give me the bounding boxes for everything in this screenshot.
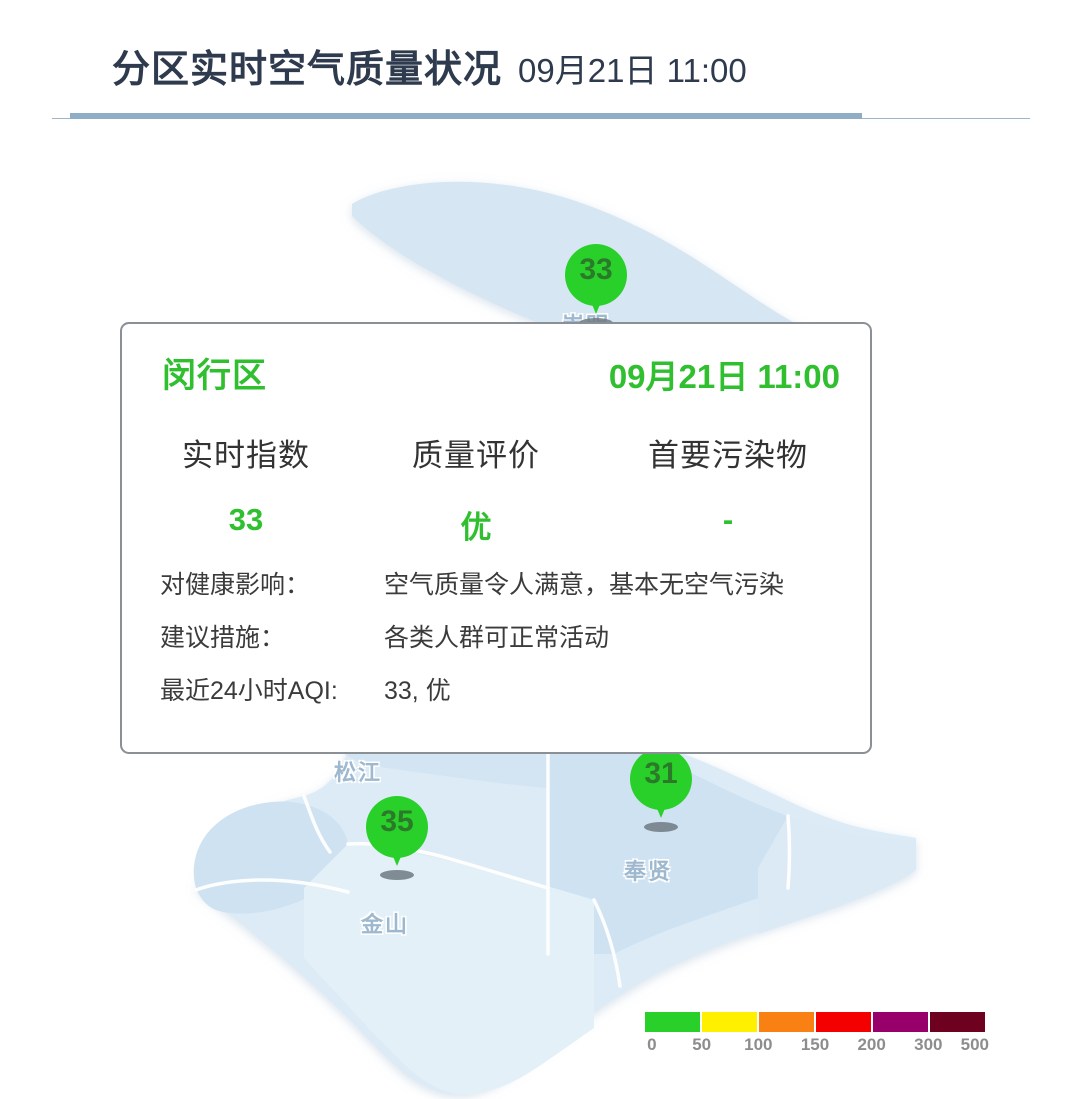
detail-value-24h-aqi: 33, 优 [384, 670, 451, 713]
legend-tick-150: 150 [801, 1035, 829, 1055]
detail-value-recommendation: 各类人群可正常活动 [384, 617, 609, 660]
legend-segment-300-500 [930, 1012, 985, 1032]
map-marker-fengxian[interactable]: 31 [628, 748, 694, 832]
legend-segment-150-200 [816, 1012, 873, 1032]
popup-metric-headers: 实时指数 质量评价 首要污染物 [122, 430, 874, 475]
legend-segment-50-100 [702, 1012, 759, 1032]
legend-tick-100: 100 [744, 1035, 772, 1055]
marker-shadow [380, 870, 414, 880]
legend-tick-300: 300 [914, 1035, 942, 1055]
map-marker-chongming[interactable]: 33 [563, 244, 629, 328]
detail-row-recommendation: 建议措施： 各类人群可正常活动 [160, 617, 836, 660]
detail-row-health-impact: 对健康影响： 空气质量令人满意，基本无空气污染 [160, 564, 836, 607]
legend-segment-200-300 [873, 1012, 930, 1032]
marker-balloon-shape: 35 [366, 796, 428, 868]
header-timestamp: 09月21日 11:00 [518, 44, 747, 92]
legend-segment-100-150 [759, 1012, 816, 1032]
legend-tick-50: 50 [692, 1035, 711, 1055]
district-label-jinshan: 金山 [361, 907, 409, 939]
popup-detail-list: 对健康影响： 空气质量令人满意，基本无空气污染 建议措施： 各类人群可正常活动 … [122, 564, 874, 723]
header-title-row: 分区实时空气质量状况 09月21日 11:00 [112, 38, 747, 93]
metric-header-level: 质量评价 [370, 430, 582, 475]
marker-shadow [644, 822, 678, 832]
popup-timestamp: 09月21日 11:00 [609, 350, 840, 398]
map-marker-jinshan[interactable]: 35 [364, 796, 430, 880]
popup-metric-values: 33 优 - [122, 502, 874, 547]
legend-segment-0-50 [645, 1012, 702, 1032]
header-divider-thick [70, 113, 862, 119]
district-label-songjiang: 松江 [334, 755, 382, 787]
legend-tick-200: 200 [857, 1035, 885, 1055]
detail-label-24h-aqi: 最近24小时AQI: [160, 670, 376, 713]
detail-row-24h-aqi: 最近24小时AQI: 33, 优 [160, 670, 836, 713]
metric-header-pollutant: 首要污染物 [582, 430, 874, 475]
aqi-color-legend: 050100150200300500 [645, 1012, 985, 1061]
marker-balloon-shape: 33 [565, 244, 627, 316]
popup-district-name: 闵行区 [162, 348, 267, 397]
detail-value-health-impact: 空气质量令人满意，基本无空气污染 [384, 564, 784, 607]
popup-titlebar: 闵行区 09月21日 11:00 [122, 324, 870, 400]
marker-value-chongming: 33 [565, 252, 627, 288]
marker-value-fengxian: 31 [630, 756, 692, 792]
district-label-fengxian: 奉贤 [624, 854, 672, 886]
metric-value-level: 优 [370, 502, 582, 547]
legend-tick-labels: 050100150200300500 [645, 1035, 985, 1061]
detail-label-health-impact: 对健康影响： [160, 564, 376, 607]
detail-label-recommendation: 建议措施： [160, 617, 376, 660]
page-header: 分区实时空气质量状况 09月21日 11:00 [0, 0, 1080, 128]
legend-tick-500: 500 [961, 1035, 989, 1055]
marker-balloon-shape: 31 [630, 748, 692, 820]
metric-value-aqi: 33 [122, 502, 370, 547]
page-title: 分区实时空气质量状况 [112, 38, 502, 93]
metric-value-pollutant: - [582, 502, 874, 547]
legend-color-bar [645, 1012, 985, 1032]
marker-value-jinshan: 35 [366, 804, 428, 840]
aqi-detail-popup[interactable]: 闵行区 09月21日 11:00 实时指数 质量评价 首要污染物 33 优 - … [120, 322, 872, 754]
metric-header-aqi: 实时指数 [122, 430, 370, 475]
legend-tick-0: 0 [647, 1035, 656, 1055]
